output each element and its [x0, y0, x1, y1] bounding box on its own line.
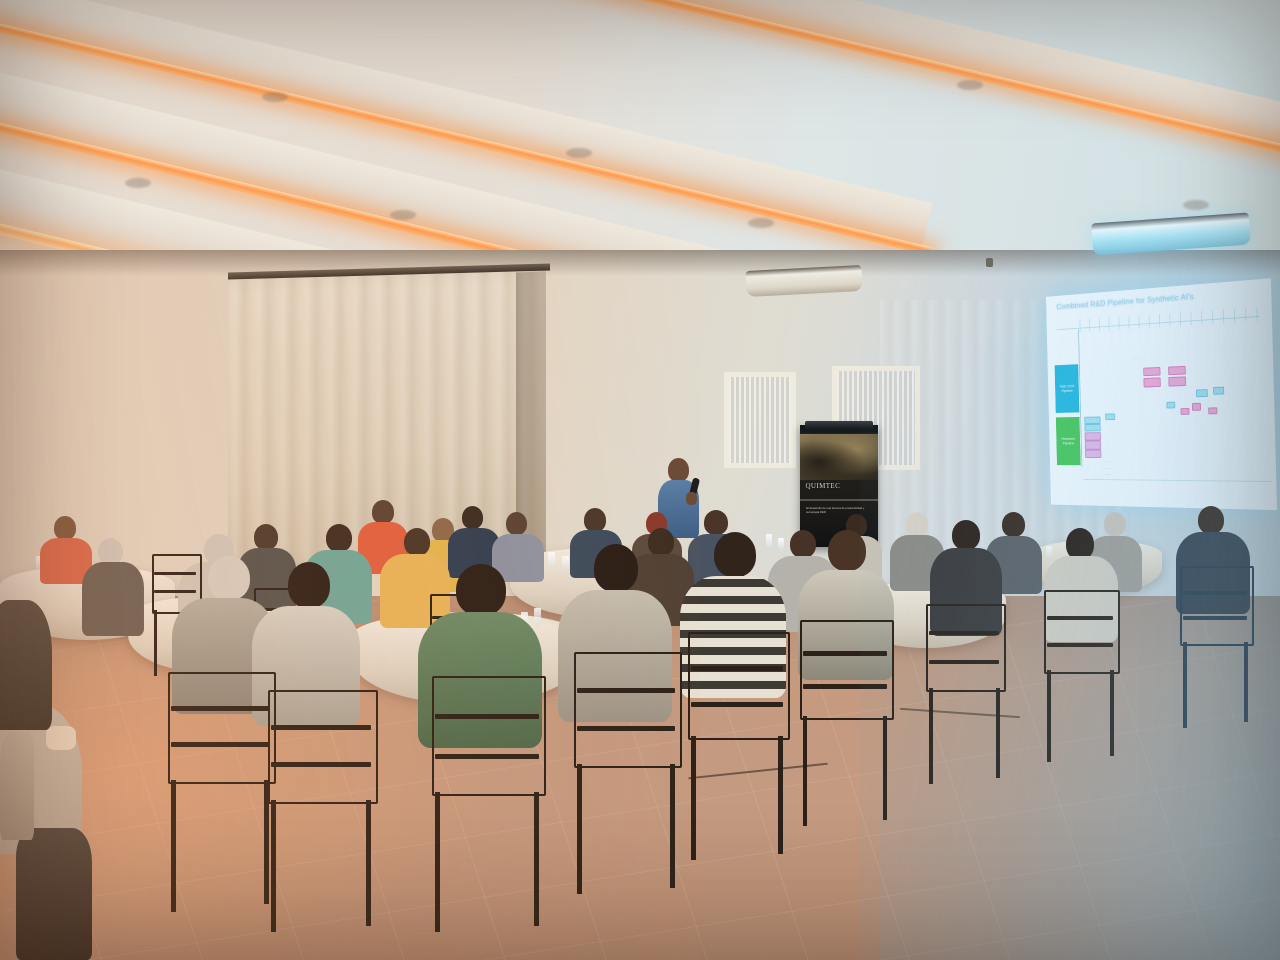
gantt-cell	[1196, 389, 1207, 397]
slide-block-rd-pipeline: R&D 2020 Pipeline	[1055, 364, 1080, 413]
foreground-attendee-back	[0, 600, 52, 730]
water-glass	[1046, 546, 1052, 558]
banner-photo	[800, 434, 878, 480]
banner-top-rail	[805, 421, 874, 430]
wine-glass	[548, 552, 555, 568]
attendee-head	[456, 564, 506, 616]
attendee-legs	[16, 828, 92, 960]
recessed-downlight-icon	[390, 210, 416, 220]
gantt-cell	[1180, 408, 1189, 415]
gantt-cell	[1166, 401, 1175, 408]
attendee-head	[462, 506, 483, 529]
recessed-downlight-icon	[957, 80, 983, 90]
attendee-head	[828, 530, 866, 571]
recessed-downlight-icon	[262, 92, 288, 102]
recessed-downlight-icon	[125, 178, 151, 188]
wine-glass	[766, 534, 772, 548]
conference-room-photo: Combined R&D Pipeline for Synthetic AI's…	[0, 0, 1280, 960]
attendee-head	[1104, 512, 1126, 536]
attendee-head	[506, 512, 527, 535]
attendee-head	[208, 556, 250, 600]
attendee-head	[584, 508, 606, 532]
water-glass	[562, 556, 569, 570]
gantt-cell	[1143, 367, 1161, 377]
presenter-head	[668, 458, 689, 482]
attendee-head	[254, 524, 278, 550]
projection-screen: Combined R&D Pipeline for Synthetic AI's…	[1046, 278, 1277, 510]
attendee-head	[288, 562, 330, 608]
attendee-head	[54, 516, 76, 540]
gantt-cell	[1084, 424, 1101, 432]
banner-logo-text: QUIMTEC	[805, 482, 872, 490]
attendee-head	[952, 520, 980, 550]
paper-sheet	[46, 726, 76, 750]
slide-block-research-pipeline: Research Pipeline	[1056, 417, 1081, 466]
banner-stripe	[800, 499, 878, 501]
gantt-cell	[1105, 414, 1115, 421]
wine-glass	[534, 608, 541, 626]
attendee-head	[648, 528, 674, 556]
gantt-cell	[1084, 441, 1101, 450]
presenter-hand	[686, 492, 697, 505]
attendee-head	[98, 538, 123, 565]
attendee-head	[326, 524, 352, 552]
gantt-cell	[1208, 407, 1217, 415]
slide-bottom-rule	[1083, 479, 1271, 482]
gantt-cell	[1084, 416, 1101, 424]
attendee-head	[404, 528, 430, 556]
gantt-cell	[1192, 403, 1201, 411]
attendee-head	[1198, 506, 1224, 534]
frosted-window-left	[724, 372, 796, 468]
attendee-head	[906, 512, 928, 536]
water-glass	[778, 538, 784, 550]
attendee-head	[1002, 512, 1025, 537]
recessed-downlight-icon	[566, 148, 592, 158]
attendee-head	[790, 530, 816, 558]
gantt-cell	[1168, 377, 1186, 387]
attendee-head	[372, 500, 394, 524]
recessed-downlight-icon	[748, 218, 774, 228]
attendee-head	[714, 532, 756, 577]
gantt-cell	[1084, 432, 1101, 441]
recessed-downlight-icon	[1183, 200, 1209, 210]
attendee-head	[704, 510, 728, 535]
gantt-cell	[1085, 449, 1102, 458]
attendee-arm	[0, 732, 34, 840]
gantt-cell	[1168, 365, 1186, 375]
gantt-cell	[1213, 386, 1225, 394]
attendee-body	[82, 562, 144, 636]
attendee-head	[594, 544, 638, 592]
